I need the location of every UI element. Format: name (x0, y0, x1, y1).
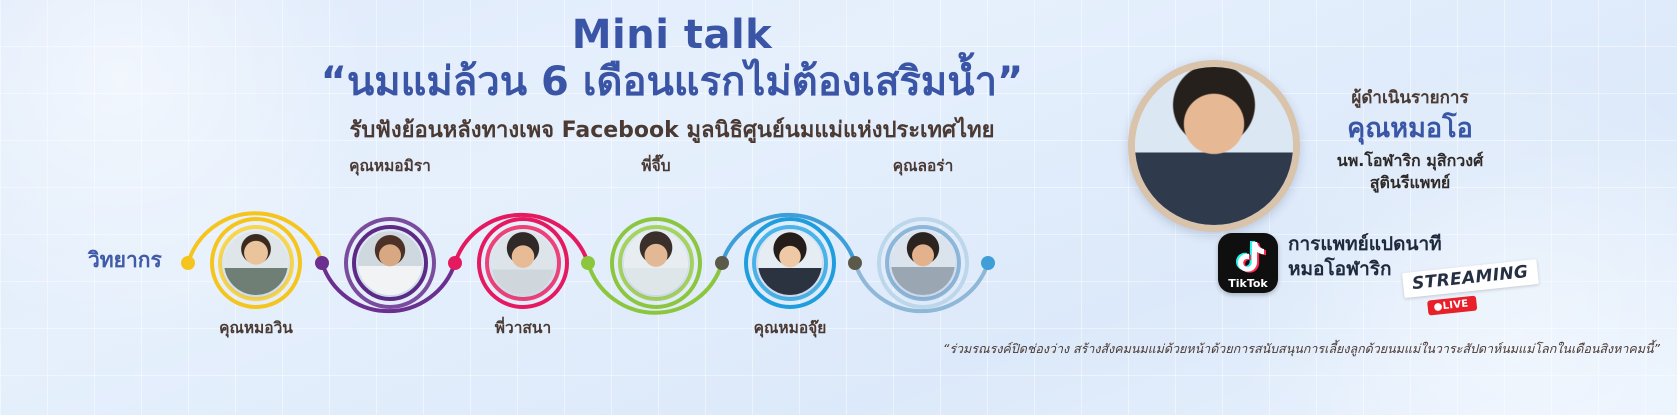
speaker-node-2[interactable] (344, 217, 436, 309)
speaker-node-5[interactable] (744, 217, 836, 309)
speaker-caption-6: คุณลอร่า (849, 153, 997, 178)
speaker-node-4[interactable] (610, 217, 702, 309)
live-label: ●LIVE (1427, 296, 1477, 316)
tiktok-icon[interactable]: TikTok (1218, 233, 1278, 293)
speaker-node-3[interactable] (477, 217, 569, 309)
tiktok-wordmark: TikTok (1218, 277, 1278, 290)
speaker-avatar-2 (358, 231, 422, 295)
speaker-caption-2: คุณหมอมิรา (316, 153, 464, 178)
tiktok-note-glyph (1232, 240, 1266, 276)
host-role-label: ผู้ดำเนินรายการ (1300, 88, 1520, 109)
mini-talk-banner: Mini talk “นมแม่ล้วน 6 เดือนแรกไม่ต้องเส… (0, 0, 1677, 415)
headline-block: Mini talk “นมแม่ล้วน 6 เดือนแรกไม่ต้องเส… (232, 14, 1112, 145)
timeline-dot-3 (448, 256, 462, 270)
host-info: ผู้ดำเนินรายการ คุณหมอโอ นพ.โอฬาริก มุสิ… (1300, 88, 1520, 194)
speaker-timeline: คุณหมอวิน คุณหมอมิรา พี่วาสนา (0, 175, 1120, 350)
speaker-avatar-4 (624, 231, 688, 295)
speaker-caption-3: พี่วาสนา (449, 315, 597, 340)
timeline-dot-7 (981, 256, 995, 270)
host-specialty: สูตินรีแพทย์ (1300, 172, 1520, 194)
speaker-avatar-5 (758, 231, 822, 295)
talk-topic-quote: “นมแม่ล้วน 6 เดือนแรกไม่ต้องเสริมน้ำ” (232, 59, 1112, 106)
speaker-caption-1: คุณหมอวิน (182, 315, 330, 340)
timeline-dot-1 (181, 256, 195, 270)
timeline-dot-2 (315, 256, 329, 270)
speaker-caption-4: พี่จี๊บ (582, 153, 730, 178)
timeline-dot-4 (581, 256, 595, 270)
page-title: Mini talk (232, 14, 1112, 57)
speaker-avatar-3 (491, 231, 555, 295)
replay-subtitle: รับฟังย้อนหลังทางเพจ Facebook มูลนิธิศูน… (232, 118, 1112, 144)
timeline-dot-6 (848, 256, 862, 270)
host-avatar (1128, 60, 1300, 232)
host-nickname: คุณหมอโอ (1300, 111, 1520, 146)
speaker-avatar-1 (224, 231, 288, 295)
speaker-node-6[interactable] (877, 217, 969, 309)
timeline-dot-5 (715, 256, 729, 270)
footer-caption: “ร่วมรณรงค์ปิดช่องว่าง สร้างสังคมนมแม่ด้… (840, 341, 1660, 357)
speaker-caption-5: คุณหมอจุ๊ย (716, 315, 864, 340)
speaker-avatar-6 (891, 231, 955, 295)
channel-name-line1: การแพทย์แปดนาที (1288, 232, 1442, 257)
speaker-node-1[interactable] (210, 217, 302, 309)
host-fullname: นพ.โอฬาริก มุสิกวงศ์ (1300, 150, 1520, 172)
